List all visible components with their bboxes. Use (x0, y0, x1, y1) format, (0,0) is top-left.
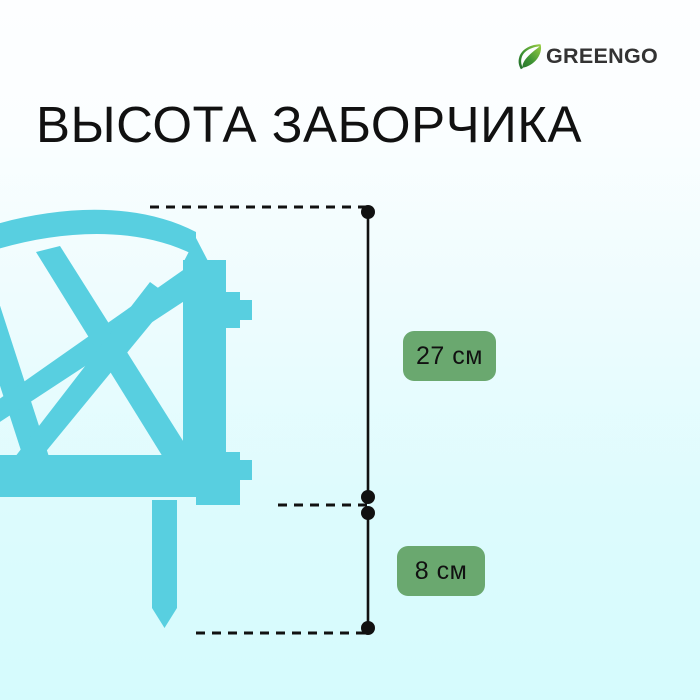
dimension-dot-bottom (361, 621, 375, 635)
dimension-dot-top (361, 205, 375, 219)
product-infographic: GREENGO ВЫСОТА ЗАБОРЧИКА (0, 0, 700, 700)
dimension-dot-middle-lower (361, 506, 375, 520)
measurement-badge-panel-height: 27 см (403, 331, 496, 381)
dimension-dot-middle-upper (361, 490, 375, 504)
dimension-annotations (0, 0, 700, 700)
measurement-badge-spike-length: 8 см (397, 546, 485, 596)
